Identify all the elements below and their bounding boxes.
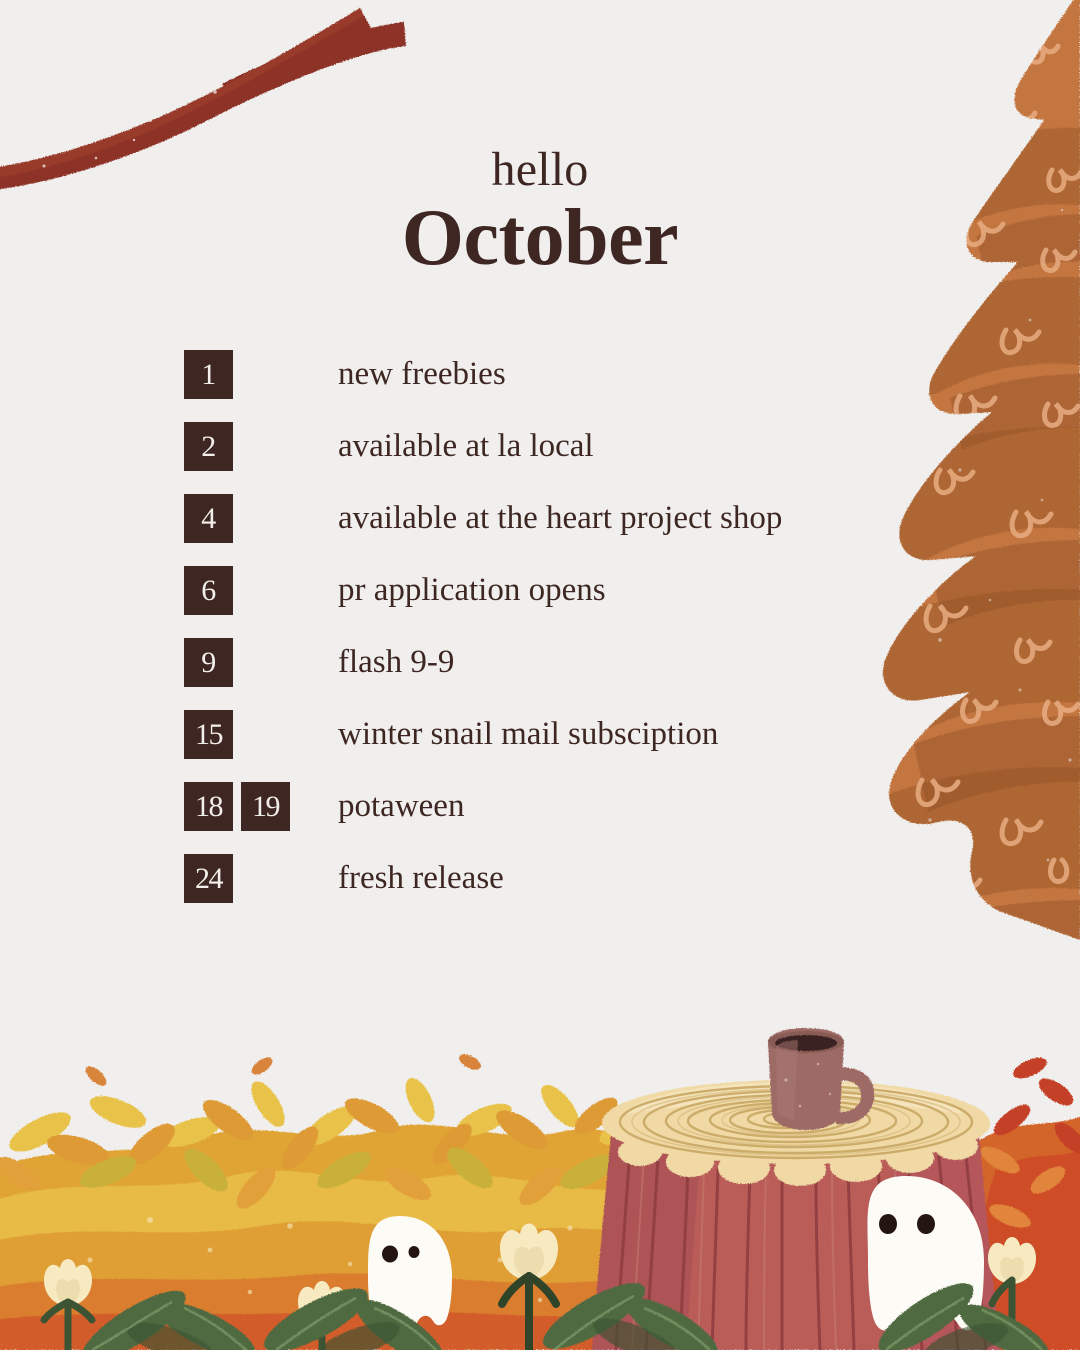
date-badge: 4	[184, 494, 233, 543]
tulip-flower-icon	[44, 1224, 1036, 1350]
list-item[interactable]: 9 flash 9-9	[184, 638, 782, 687]
event-label: pr application opens	[338, 574, 606, 607]
event-label: fresh release	[338, 862, 504, 895]
event-label: new freebies	[338, 358, 506, 391]
date-badge-group: 2	[184, 422, 338, 471]
date-badge: 6	[184, 566, 233, 615]
date-badge: 1	[184, 350, 233, 399]
greeting-text: hello	[0, 146, 1080, 194]
date-badge: 15	[184, 710, 233, 759]
pine-tree-icon	[780, 0, 1080, 940]
date-badge-group: 6	[184, 566, 338, 615]
list-item[interactable]: 24 fresh release	[184, 854, 782, 903]
date-badge-group: 4	[184, 494, 338, 543]
date-badge-group: 1	[184, 350, 338, 399]
ghost-icon	[867, 1176, 984, 1332]
event-label: available at the heart project shop	[338, 502, 782, 535]
ghost-icon	[368, 1216, 452, 1326]
list-item[interactable]: 6 pr application opens	[184, 566, 782, 615]
list-item[interactable]: 1 new freebies	[184, 350, 782, 399]
autumn-foliage-icon	[0, 1125, 706, 1350]
date-badge: 2	[184, 422, 233, 471]
list-item[interactable]: 4 available at the heart project shop	[184, 494, 782, 543]
autumn-foliage-icon	[954, 1053, 1080, 1350]
list-item[interactable]: 2 available at la local	[184, 422, 782, 471]
month-title: October	[0, 194, 1080, 284]
coffee-mug-icon	[768, 1028, 874, 1130]
date-badge-group: 18 19	[184, 782, 338, 831]
date-badge-group: 24	[184, 854, 338, 903]
date-badge: 19	[241, 782, 290, 831]
green-leaves-icon	[74, 1271, 1056, 1350]
page-title: hello October	[0, 146, 1080, 284]
event-label: potaween	[338, 790, 464, 823]
event-label: flash 9-9	[338, 646, 454, 679]
date-badge: 18	[184, 782, 233, 831]
event-label: available at la local	[338, 430, 594, 463]
poster-canvas: hello October 1 new freebies 2 available…	[0, 0, 1080, 1350]
tree-stump-icon	[592, 1080, 1000, 1350]
event-list: 1 new freebies 2 available at la local 4…	[184, 350, 782, 926]
date-badge: 9	[184, 638, 233, 687]
list-item[interactable]: 18 19 potaween	[184, 782, 782, 831]
date-badge-group: 15	[184, 710, 338, 759]
event-label: winter snail mail subsciption	[338, 718, 718, 751]
date-badge: 24	[184, 854, 233, 903]
list-item[interactable]: 15 winter snail mail subsciption	[184, 710, 782, 759]
autumn-scene	[0, 1020, 1080, 1350]
date-badge-group: 9	[184, 638, 338, 687]
